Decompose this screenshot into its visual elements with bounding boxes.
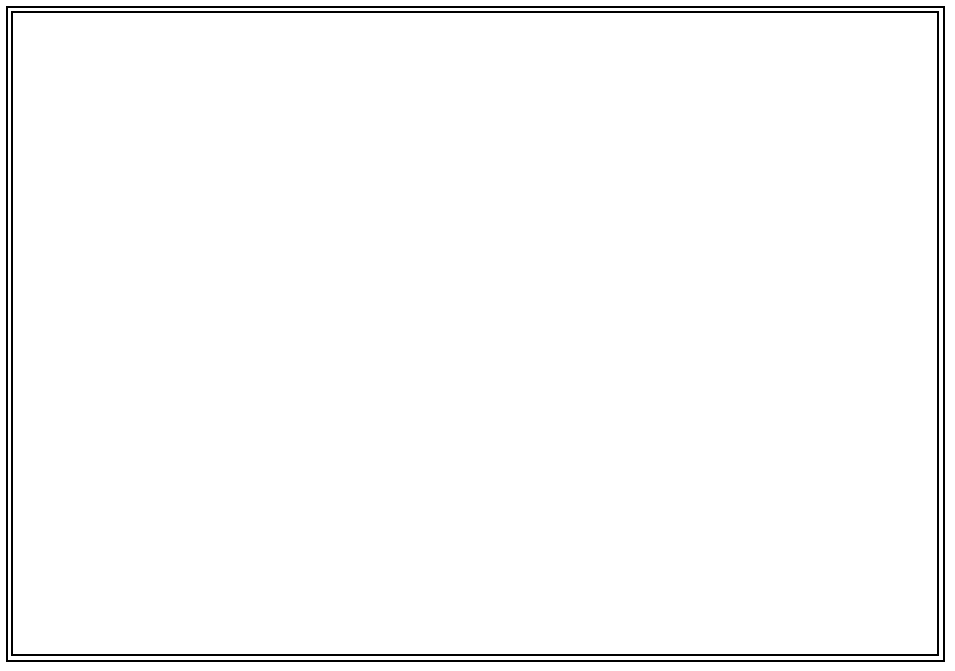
map-frame-inner bbox=[11, 11, 939, 656]
